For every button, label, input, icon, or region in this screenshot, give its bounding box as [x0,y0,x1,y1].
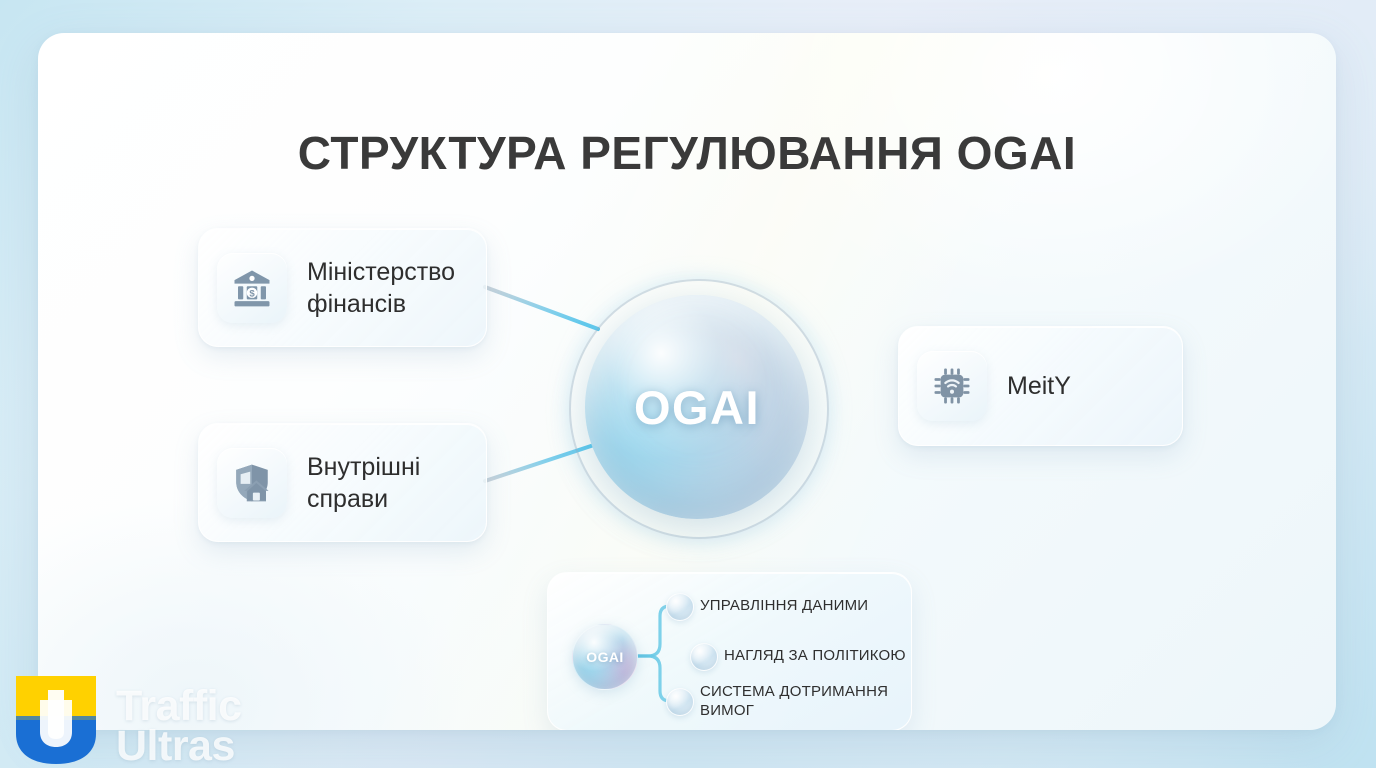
card-home-affairs[interactable]: Внутрішні справи [198,423,487,542]
chip-wifi-icon [917,351,987,421]
central-node-ogai[interactable]: OGAI [569,279,829,539]
node-policy-oversight [690,643,718,671]
node-compliance-system [666,688,694,716]
card-label-meity: MeitY [1007,370,1071,402]
page-title: СТРУКТУРА РЕГУЛЮВАННЯ OGAI [38,126,1336,180]
watermark-line-2: Ultras [116,726,242,766]
card-meity[interactable]: MeitY [898,326,1183,446]
subcard-label-compliance-system: СИСТЕМА ДОТРИМАННЯ ВИМОГ [700,682,888,720]
card-ministry-of-finance[interactable]: $ Міністерство фінансів [198,228,487,347]
card-label-ministry-of-finance: Міністерство фінансів [307,256,455,320]
subcard-orb-label: OGAI [586,649,623,665]
subcard-label-policy-oversight: НАГЛЯД ЗА ПОЛІТИКОЮ [724,646,906,665]
card-ogai-functions[interactable]: OGAI УПРАВЛІННЯ ДАНИМИ НАГЛЯД ЗА ПОЛІТИК… [547,572,912,730]
orb-label: OGAI [634,380,760,435]
orb-sphere: OGAI [585,295,809,519]
subcard-orb-ogai: OGAI [572,624,638,690]
card-label-home-affairs: Внутрішні справи [307,451,420,515]
svg-text:$: $ [249,288,255,299]
subcard-label-data-management: УПРАВЛІННЯ ДАНИМИ [700,596,868,615]
slide-panel: СТРУКТУРА РЕГУЛЮВАННЯ OGAI [38,33,1336,730]
slide-canvas: СТРУКТУРА РЕГУЛЮВАННЯ OGAI [0,0,1376,768]
shield-home-icon [217,448,287,518]
node-data-management [666,593,694,621]
bank-dollar-icon: $ [217,253,287,323]
